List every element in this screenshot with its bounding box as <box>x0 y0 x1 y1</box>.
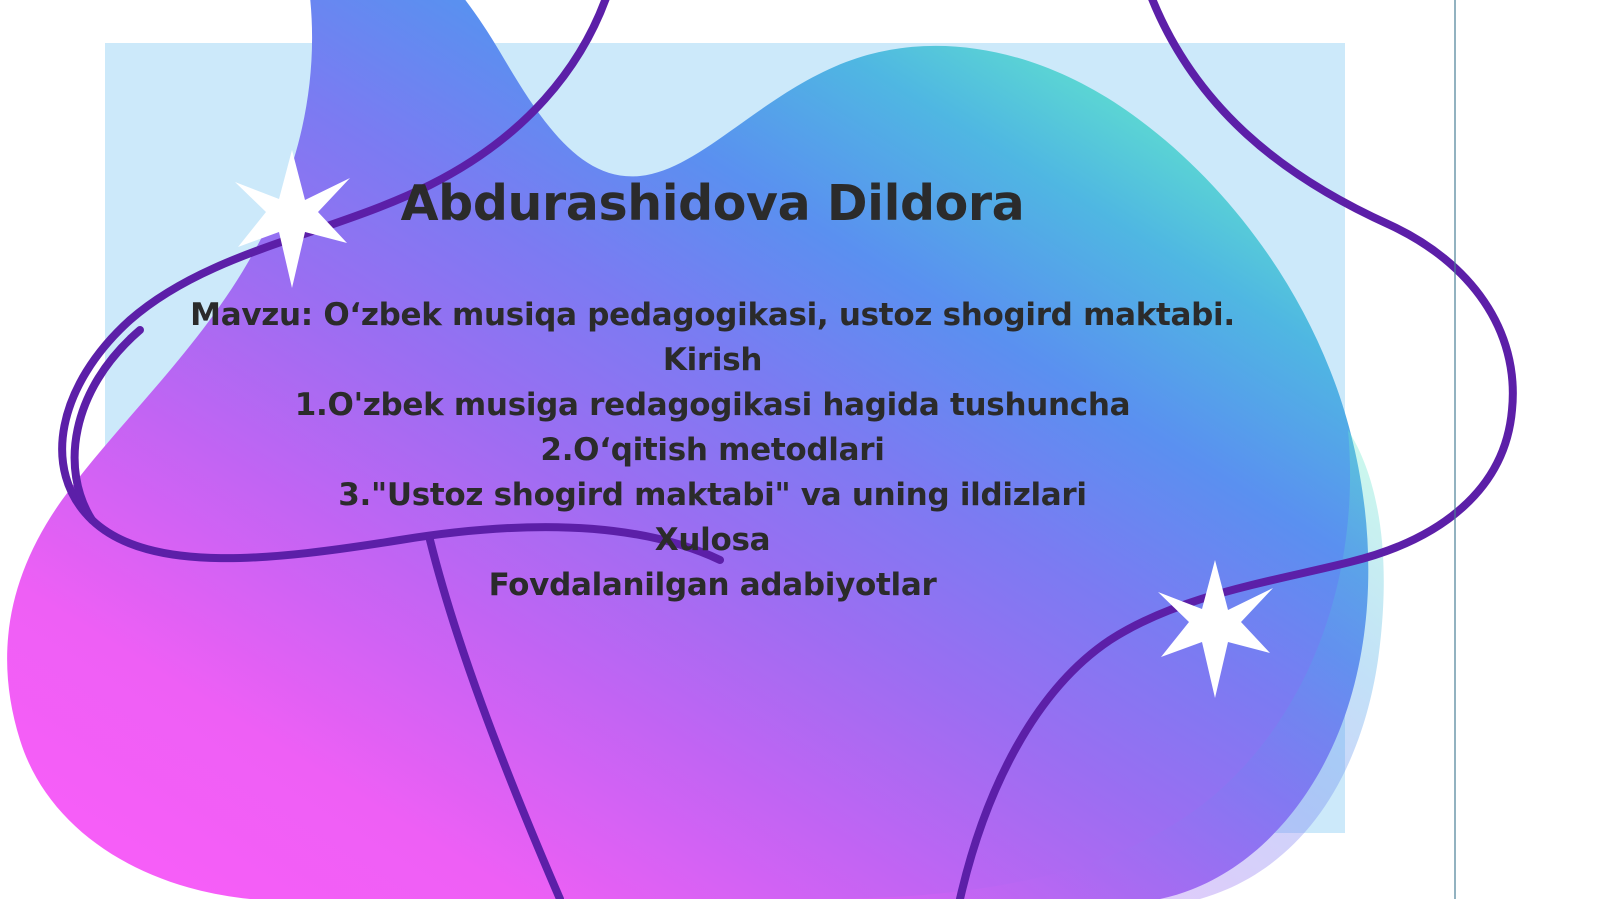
slide-title: Abdurashidova Dildora <box>180 178 1245 230</box>
body-line-references: Fovdalanilgan adabiyotlar <box>180 563 1245 608</box>
body-line-item-3: 3."Ustoz shogird maktabi" va uning ildiz… <box>180 473 1245 518</box>
body-line-conclusion: Xulosa <box>180 518 1245 563</box>
body-line-item-2: 2.O‘qitish metodlari <box>180 428 1245 473</box>
slide-text-layer: Abdurashidova Dildora Mavzu: O‘zbek musi… <box>0 0 1600 899</box>
slide-body: Mavzu: O‘zbek musiqa pedagogikasi, ustoz… <box>180 293 1245 608</box>
body-line-topic: Mavzu: O‘zbek musiqa pedagogikasi, ustoz… <box>180 293 1245 338</box>
body-line-item-1: 1.O'zbek musiga redagogikasi hagida tush… <box>180 383 1245 428</box>
slide-canvas: Abdurashidova Dildora Mavzu: O‘zbek musi… <box>0 0 1600 899</box>
body-line-intro: Kirish <box>180 338 1245 383</box>
